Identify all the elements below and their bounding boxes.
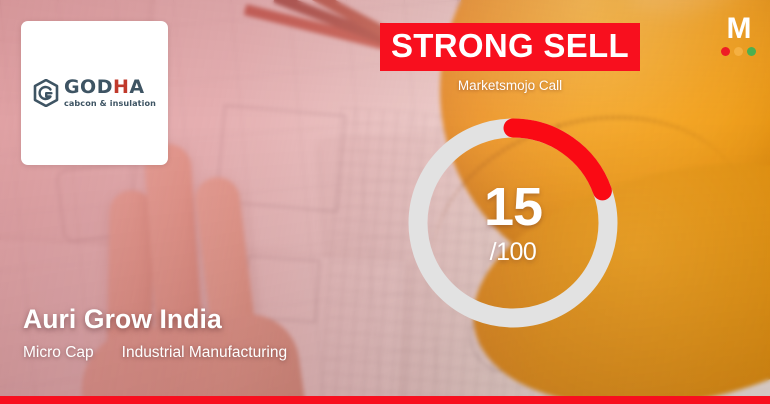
company-info: Auri Grow India Micro Cap Industrial Man… bbox=[23, 304, 287, 362]
company-name: Auri Grow India bbox=[23, 304, 287, 335]
marketsmojo-logo: M bbox=[721, 14, 756, 56]
gauge-label: 15 /100 bbox=[408, 118, 618, 328]
godha-hex-g-icon bbox=[33, 79, 59, 107]
footer-accent-bar bbox=[0, 396, 770, 404]
company-logo: GODHA cabcon & insulation bbox=[33, 78, 156, 107]
stock-call-banner: GODHA cabcon & insulation STRONG SELL Ma… bbox=[0, 0, 770, 404]
marketsmojo-m-icon: M bbox=[721, 14, 756, 44]
call-block: STRONG SELL Marketsmojo Call bbox=[380, 23, 640, 93]
company-meta: Micro Cap Industrial Manufacturing bbox=[23, 344, 287, 362]
score-gauge: 15 /100 bbox=[408, 118, 618, 328]
company-logo-card: GODHA cabcon & insulation bbox=[21, 21, 168, 165]
gauge-score-value: 15 bbox=[484, 180, 542, 234]
brand-dot-green bbox=[747, 47, 756, 56]
verdict-badge: STRONG SELL bbox=[380, 23, 640, 71]
brand-dot-amber bbox=[734, 47, 743, 56]
gauge-score-max: /100 bbox=[490, 238, 537, 267]
company-logo-text: GODHA cabcon & insulation bbox=[64, 78, 156, 107]
brand-dot-red bbox=[721, 47, 730, 56]
company-logo-tagline: cabcon & insulation bbox=[64, 99, 156, 107]
company-sector: Industrial Manufacturing bbox=[122, 344, 287, 362]
call-source-label: Marketsmojo Call bbox=[380, 78, 640, 93]
company-market-cap: Micro Cap bbox=[23, 344, 94, 362]
marketsmojo-dots bbox=[721, 47, 756, 56]
company-logo-name: GODHA bbox=[64, 78, 156, 97]
